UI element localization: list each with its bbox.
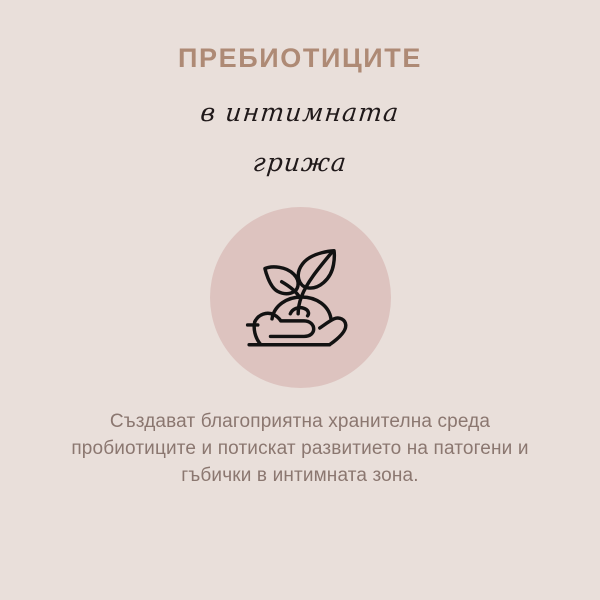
script-subtitle: в интимната грижа <box>0 96 600 180</box>
script-subtitle-line-2: грижа <box>0 146 600 180</box>
hand-holding-plant-icon <box>240 237 362 359</box>
prebiotics-info-card: ПРЕБИОТИЦИТЕ в интимната грижа <box>0 0 600 600</box>
page-title: ПРЕБИОТИЦИТЕ <box>0 42 600 74</box>
icon-circle-badge <box>210 207 391 388</box>
body-line-2: пробиотиците и потискат развитието на па… <box>40 435 560 462</box>
body-description: Създават благоприятна хранителна среда п… <box>40 408 560 489</box>
script-subtitle-line-1: в интимната <box>0 96 600 130</box>
hand-fingers <box>254 313 313 336</box>
body-line-1: Създават благоприятна хранителна среда <box>40 408 560 435</box>
body-line-3: гъбички в интимната зона. <box>40 462 560 489</box>
